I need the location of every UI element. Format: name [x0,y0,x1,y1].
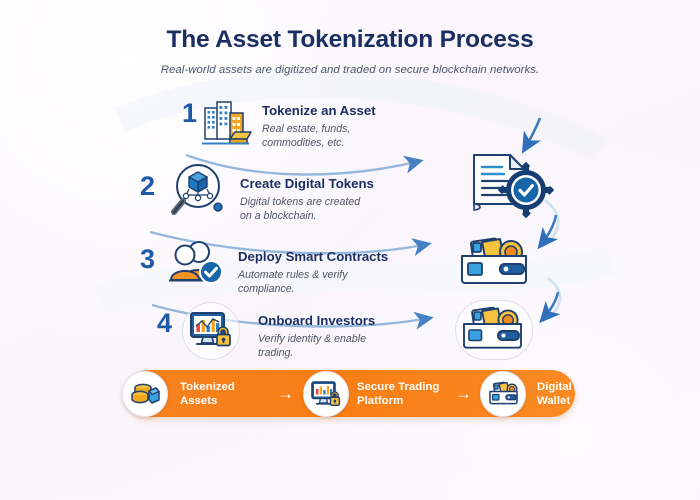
bar-arrow-1: → [277,385,294,402]
bar-label-digital-wallet: Digital Wallet [537,380,572,409]
monitor-lock-icon [311,380,341,408]
wallet-cards-coin-illustration-upper [456,232,538,288]
bar-chip-tokenized-assets[interactable] [122,371,168,417]
step-2-number: 2 [140,173,155,200]
page-subtitle: Real-world assets are digitized and trad… [0,64,700,76]
step-3-number: 3 [140,246,155,273]
magnifier-blockchain-cube-icon [166,163,228,221]
coins-token-icon [130,380,160,408]
buildings-gold-bar-icon [197,98,253,146]
wallet-icon [488,381,519,408]
people-verified-check-icon [166,239,228,285]
bar-chip-digital-wallet[interactable] [480,371,526,417]
bar-label-tokenized-assets: Tokenized Assets [180,380,235,409]
step-1-title: Tokenize an Asset [262,103,376,119]
step-4-description: Verify identity & enable trading. [258,332,375,361]
step-1-text: Tokenize an Asset Real estate, funds, co… [262,103,376,150]
step-2-description: Digital tokens are created on a blockcha… [240,195,374,224]
monitor-chart-lock-icon [189,310,233,350]
step-3-description: Automate rules & verify compliance. [238,268,388,297]
step-3-title: Deploy Smart Contracts [238,249,388,265]
step-1-number: 1 [182,100,197,127]
bar-arrow-2: → [455,385,472,402]
infographic-canvas: The Asset Tokenization Process Real-worl… [0,0,700,500]
step-4-title: Onboard Investors [258,313,375,329]
step-2-title: Create Digital Tokens [240,176,374,192]
document-gear-check-illustration [468,152,556,218]
wallet-cards-coin-illustration-lower [459,303,531,355]
step-3-text: Deploy Smart Contracts Automate rules & … [238,249,388,296]
step-2-text: Create Digital Tokens Digital tokens are… [240,176,374,223]
page-title: The Asset Tokenization Process [0,26,700,54]
bar-label-secure-trading-platform: Secure Trading Platform [357,380,439,409]
step-4-text: Onboard Investors Verify identity & enab… [258,313,375,360]
step-4-number: 4 [157,310,172,337]
bar-chip-secure-trading-platform[interactable] [303,371,349,417]
step-1-description: Real estate, funds, commodities, etc. [262,122,376,151]
summary-flow-bar: Tokenized Assets → Secure Trading Platfo… [125,370,575,417]
